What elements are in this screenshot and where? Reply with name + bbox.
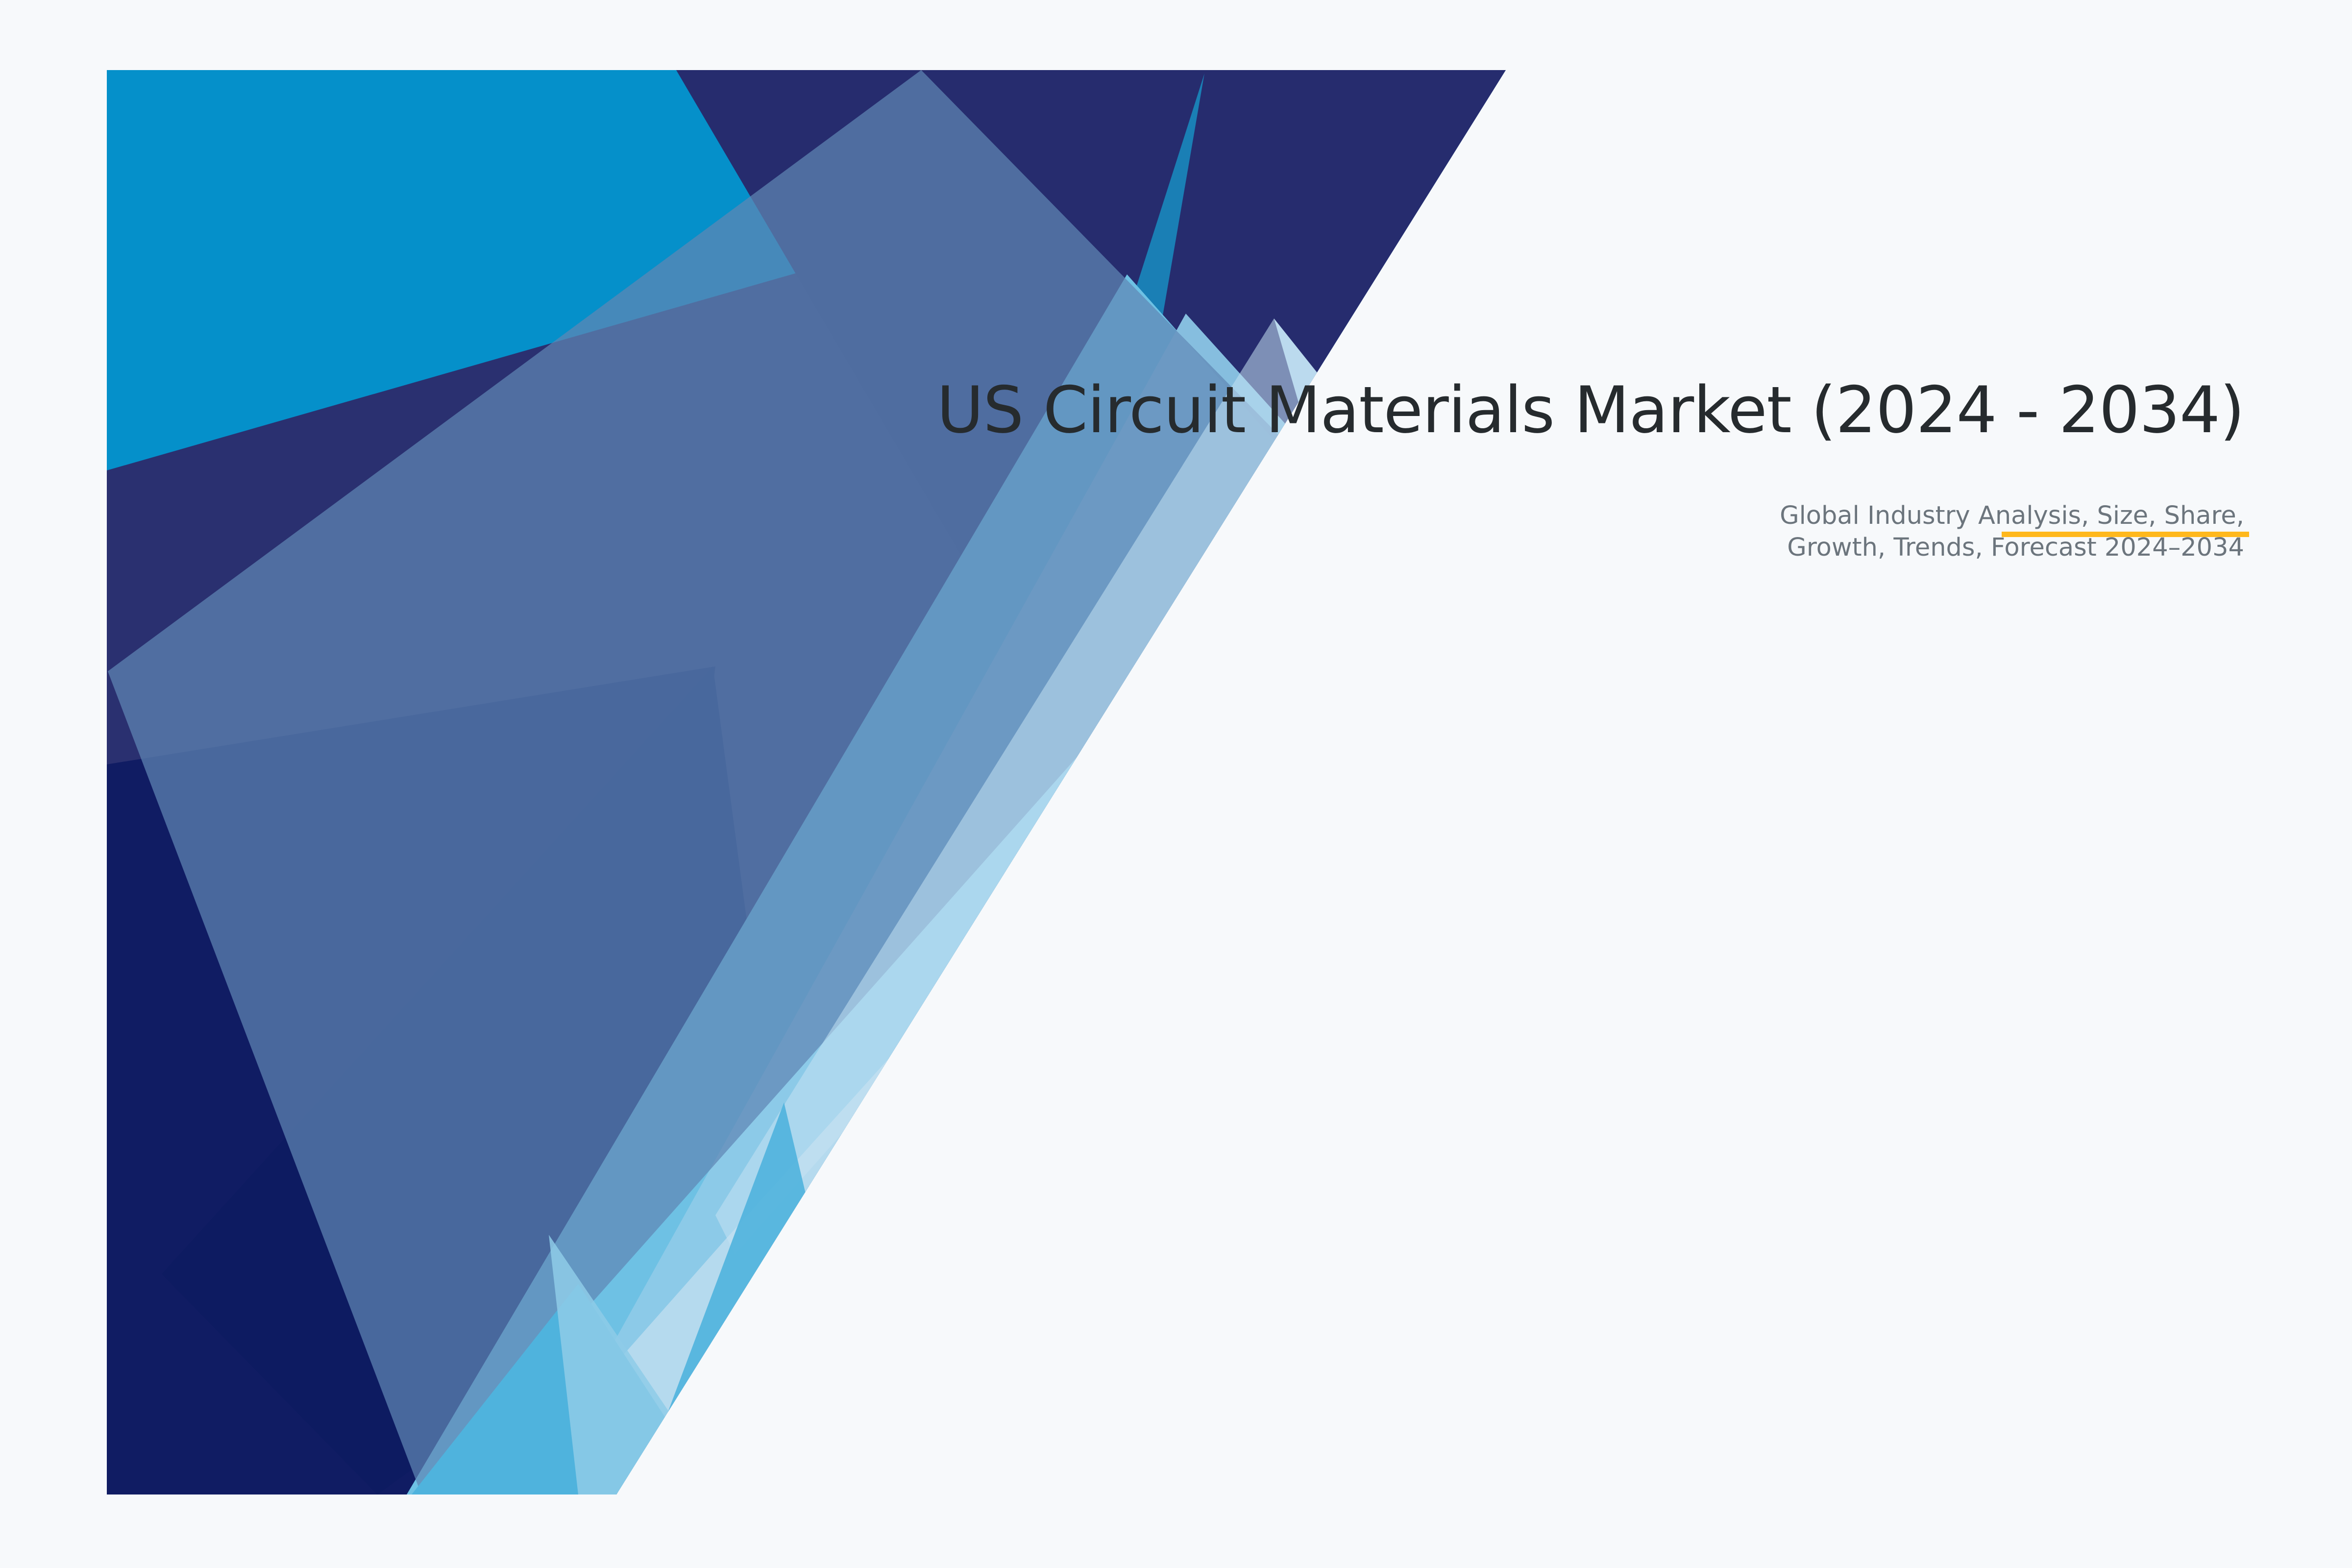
- artwork-layers: [107, 70, 1528, 1501]
- text-block: US Circuit Materials Market (2024 - 2034…: [833, 372, 2244, 564]
- title-wrap: US Circuit Materials Market (2024 - 2034…: [833, 372, 2244, 447]
- title-slide: US Circuit Materials Market (2024 - 2034…: [0, 0, 2352, 1568]
- page-subtitle: Global Industry Analysis, Size, Share, G…: [833, 447, 2244, 564]
- page-title: US Circuit Materials Market (2024 - 2034…: [833, 372, 2244, 447]
- abstract-geometric-artwork: [0, 0, 2352, 1568]
- title-accent-bar: [2002, 532, 2249, 537]
